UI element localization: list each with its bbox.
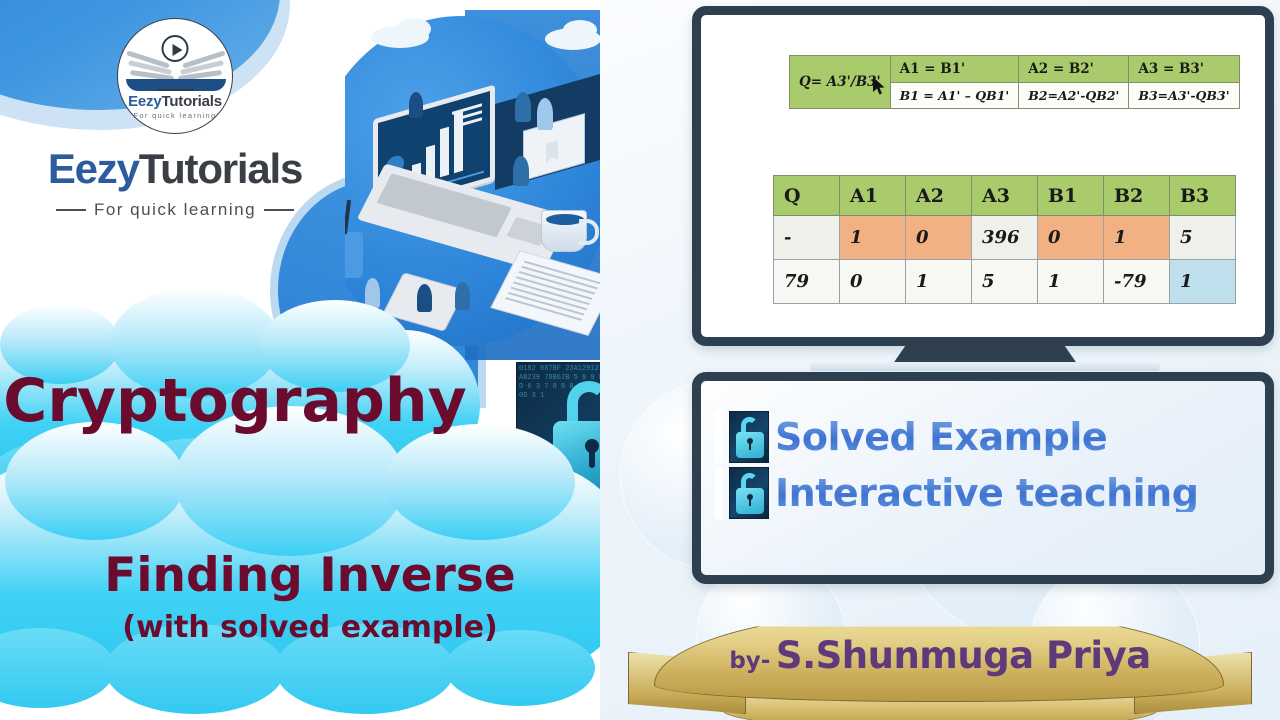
isometric-elearning-illustration: [345, 10, 600, 360]
values-cell-q-r1: -: [774, 216, 840, 260]
formula-b1: B1 = A1' – QB1': [890, 83, 1019, 109]
values-cell-b1-r2: 1: [1038, 260, 1104, 304]
monitor-top: Q= A3'/B3' A1 = B1' A2 = B2' A3 = B3' B1…: [692, 6, 1274, 346]
monitor-bottom: Solved ExampleInteractive teaching: [692, 372, 1274, 584]
person-figure: [455, 282, 470, 310]
values-cell-a2-r1: 0: [906, 216, 972, 260]
values-table-header-a2: A2: [906, 176, 972, 216]
logo-badge-tagline: For quick learning: [118, 111, 232, 120]
brand-name-part2: Tutorials: [139, 145, 302, 192]
formula-b2: B2=A2'-QB2': [1019, 83, 1129, 109]
values-table-header-b1: B1: [1038, 176, 1104, 216]
brand-tagline: For quick learning: [20, 200, 330, 220]
table-row: -10396015: [774, 216, 1236, 260]
brand-logo-block: EezyTutorials For quick learning EezyTut…: [20, 18, 330, 220]
left-panel: EezyTutorials For quick learning EezyTut…: [0, 0, 600, 720]
feature-bullet-item: Interactive teaching: [715, 467, 1198, 519]
values-cell-a3-r1: 396: [972, 216, 1038, 260]
person-figure: [515, 92, 531, 122]
person-figure: [513, 156, 529, 186]
author-name: S.Shunmuga Priya: [776, 634, 1151, 677]
logo-badge-label: EezyTutorials: [118, 93, 232, 110]
author-ribbon: by- S.Shunmuga Priya: [614, 600, 1266, 720]
monitor-shelf: [810, 362, 1160, 371]
pencil-cup-icon: [345, 232, 363, 278]
values-cell-a1-r1: 1: [840, 216, 906, 260]
feature-bullet-label: Interactive teaching: [775, 474, 1198, 512]
values-table: QA1A2A3B1B2B3 -10396015790151-791: [773, 175, 1236, 304]
tagline-dash-right: [264, 209, 294, 211]
values-table-header-b2: B2: [1104, 176, 1170, 216]
author-credit: by- S.Shunmuga Priya: [614, 634, 1266, 677]
bullet-spacer: [715, 411, 723, 463]
page-note: (with solved example): [0, 610, 600, 645]
table-row: 790151-791: [774, 260, 1236, 304]
bullet-spacer: [715, 467, 723, 519]
values-table-header-b3: B3: [1170, 176, 1236, 216]
brand-tagline-text: For quick learning: [94, 200, 256, 220]
values-cell-a3-r2: 5: [972, 260, 1038, 304]
feature-bullet-label: Solved Example: [775, 418, 1107, 456]
logo-badge-label-part2: Tutorials: [161, 93, 221, 110]
table-row: Q= A3'/B3' A1 = B1' A2 = B2' A3 = B3': [790, 56, 1240, 83]
person-figure: [537, 98, 553, 130]
feature-bullet-item: Solved Example: [715, 411, 1198, 463]
formula-a2-head: A2 = B2': [1019, 56, 1129, 83]
values-table-header-q: Q: [774, 176, 840, 216]
person-figure: [409, 92, 423, 118]
right-panel: Q= A3'/B3' A1 = B1' A2 = B2' A3 = B3' B1…: [600, 0, 1280, 720]
brand-name-part1: Eezy: [48, 145, 139, 192]
tagline-dash-left: [56, 209, 86, 211]
brand-name: EezyTutorials: [20, 148, 330, 190]
formula-b3: B3=A3'-QB3': [1129, 83, 1239, 109]
values-cell-b1-r1: 0: [1038, 216, 1104, 260]
values-cell-q-r2: 79: [774, 260, 840, 304]
formula-a3-head: A3 = B3': [1129, 56, 1239, 83]
values-cell-b3-r1: 5: [1170, 216, 1236, 260]
thumbnail-canvas: EezyTutorials For quick learning EezyTut…: [0, 0, 1280, 720]
values-cell-a2-r2: 1: [906, 260, 972, 304]
values-cell-b3-r2: 1: [1170, 260, 1236, 304]
values-table-header-a3: A3: [972, 176, 1038, 216]
feature-bullet-list: Solved ExampleInteractive teaching: [715, 411, 1198, 523]
person-figure: [417, 284, 432, 312]
values-table-header-a1: A1: [840, 176, 906, 216]
table-header-row: QA1A2A3B1B2B3: [774, 176, 1236, 216]
padlock-icon: [729, 411, 769, 463]
author-prefix: by-: [729, 648, 770, 674]
page-title: Cryptography: [0, 366, 480, 436]
page-subtitle: Finding Inverse: [0, 548, 600, 603]
values-cell-a1-r2: 0: [840, 260, 906, 304]
padlock-icon: [729, 467, 769, 519]
values-cell-b2-r2: -79: [1104, 260, 1170, 304]
logo-badge: EezyTutorials For quick learning: [117, 18, 233, 134]
formula-table: Q= A3'/B3' A1 = B1' A2 = B2' A3 = B3' B1…: [789, 55, 1240, 109]
logo-badge-label-part1: Eezy: [128, 93, 161, 110]
formula-a1-head: A1 = B1': [890, 56, 1019, 83]
coffee-mug-icon: [541, 210, 587, 252]
values-cell-b2-r1: 1: [1104, 216, 1170, 260]
cloud-title-secondary: Finding Inverse (with solved example): [0, 462, 600, 674]
